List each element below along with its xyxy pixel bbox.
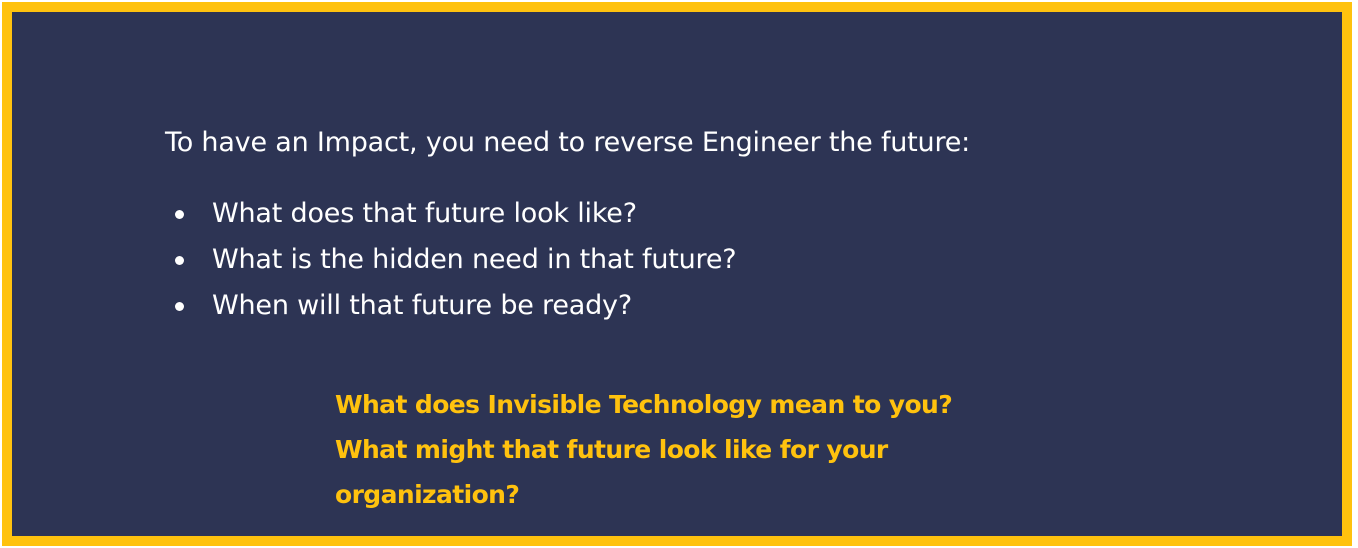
list-item-label: What does that future look like? — [212, 198, 637, 229]
slide-heading: To have an Impact, you need to reverse E… — [165, 127, 970, 158]
bullet-dot-icon — [175, 302, 184, 311]
callout-question-block: What does Invisible Technology mean to y… — [335, 382, 952, 517]
callout-line: What might that future look like for you… — [335, 427, 952, 472]
list-item-label: When will that future be ready? — [212, 290, 632, 321]
bullet-dot-icon — [175, 210, 184, 219]
bullet-dot-icon — [175, 256, 184, 265]
callout-line: What does Invisible Technology mean to y… — [335, 382, 952, 427]
slide-yellow-frame: To have an Impact, you need to reverse E… — [2, 2, 1352, 546]
callout-line: organization? — [335, 472, 952, 517]
list-item: What is the hidden need in that future? — [165, 237, 736, 283]
slide-content: To have an Impact, you need to reverse E… — [12, 12, 1342, 536]
question-bullet-list: What does that future look like? What is… — [165, 191, 736, 329]
slide-panel: To have an Impact, you need to reverse E… — [12, 12, 1342, 536]
list-item-label: What is the hidden need in that future? — [212, 244, 736, 275]
list-item: What does that future look like? — [165, 191, 736, 237]
list-item: When will that future be ready? — [165, 283, 736, 329]
